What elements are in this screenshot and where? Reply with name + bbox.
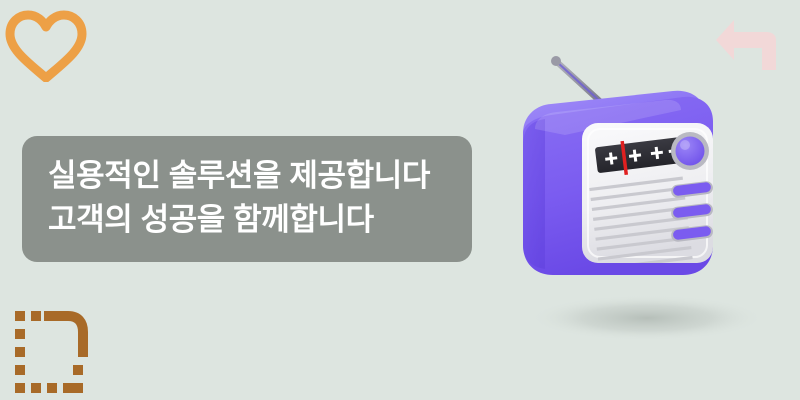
- radio-illustration: [505, 25, 795, 355]
- heart-outline-icon: [0, 8, 92, 82]
- headline-plate: 실용적인 솔루션을 제공합니다 고객의 성공을 함께합니다: [22, 136, 472, 262]
- radio-volume-knob: [671, 132, 709, 170]
- headline-line-1: 실용적인 솔루션을 제공합니다: [48, 154, 448, 198]
- banner-canvas: 실용적인 솔루션을 제공합니다 고객의 성공을 함께합니다: [0, 0, 800, 400]
- radio-preset-buttons: [670, 180, 713, 242]
- dashed-square-corner-icon: [10, 305, 92, 397]
- radio-shadow: [529, 295, 765, 341]
- headline-line-2: 고객의 성공을 함께합니다: [48, 198, 448, 242]
- radio-body-side-shade: [523, 119, 545, 269]
